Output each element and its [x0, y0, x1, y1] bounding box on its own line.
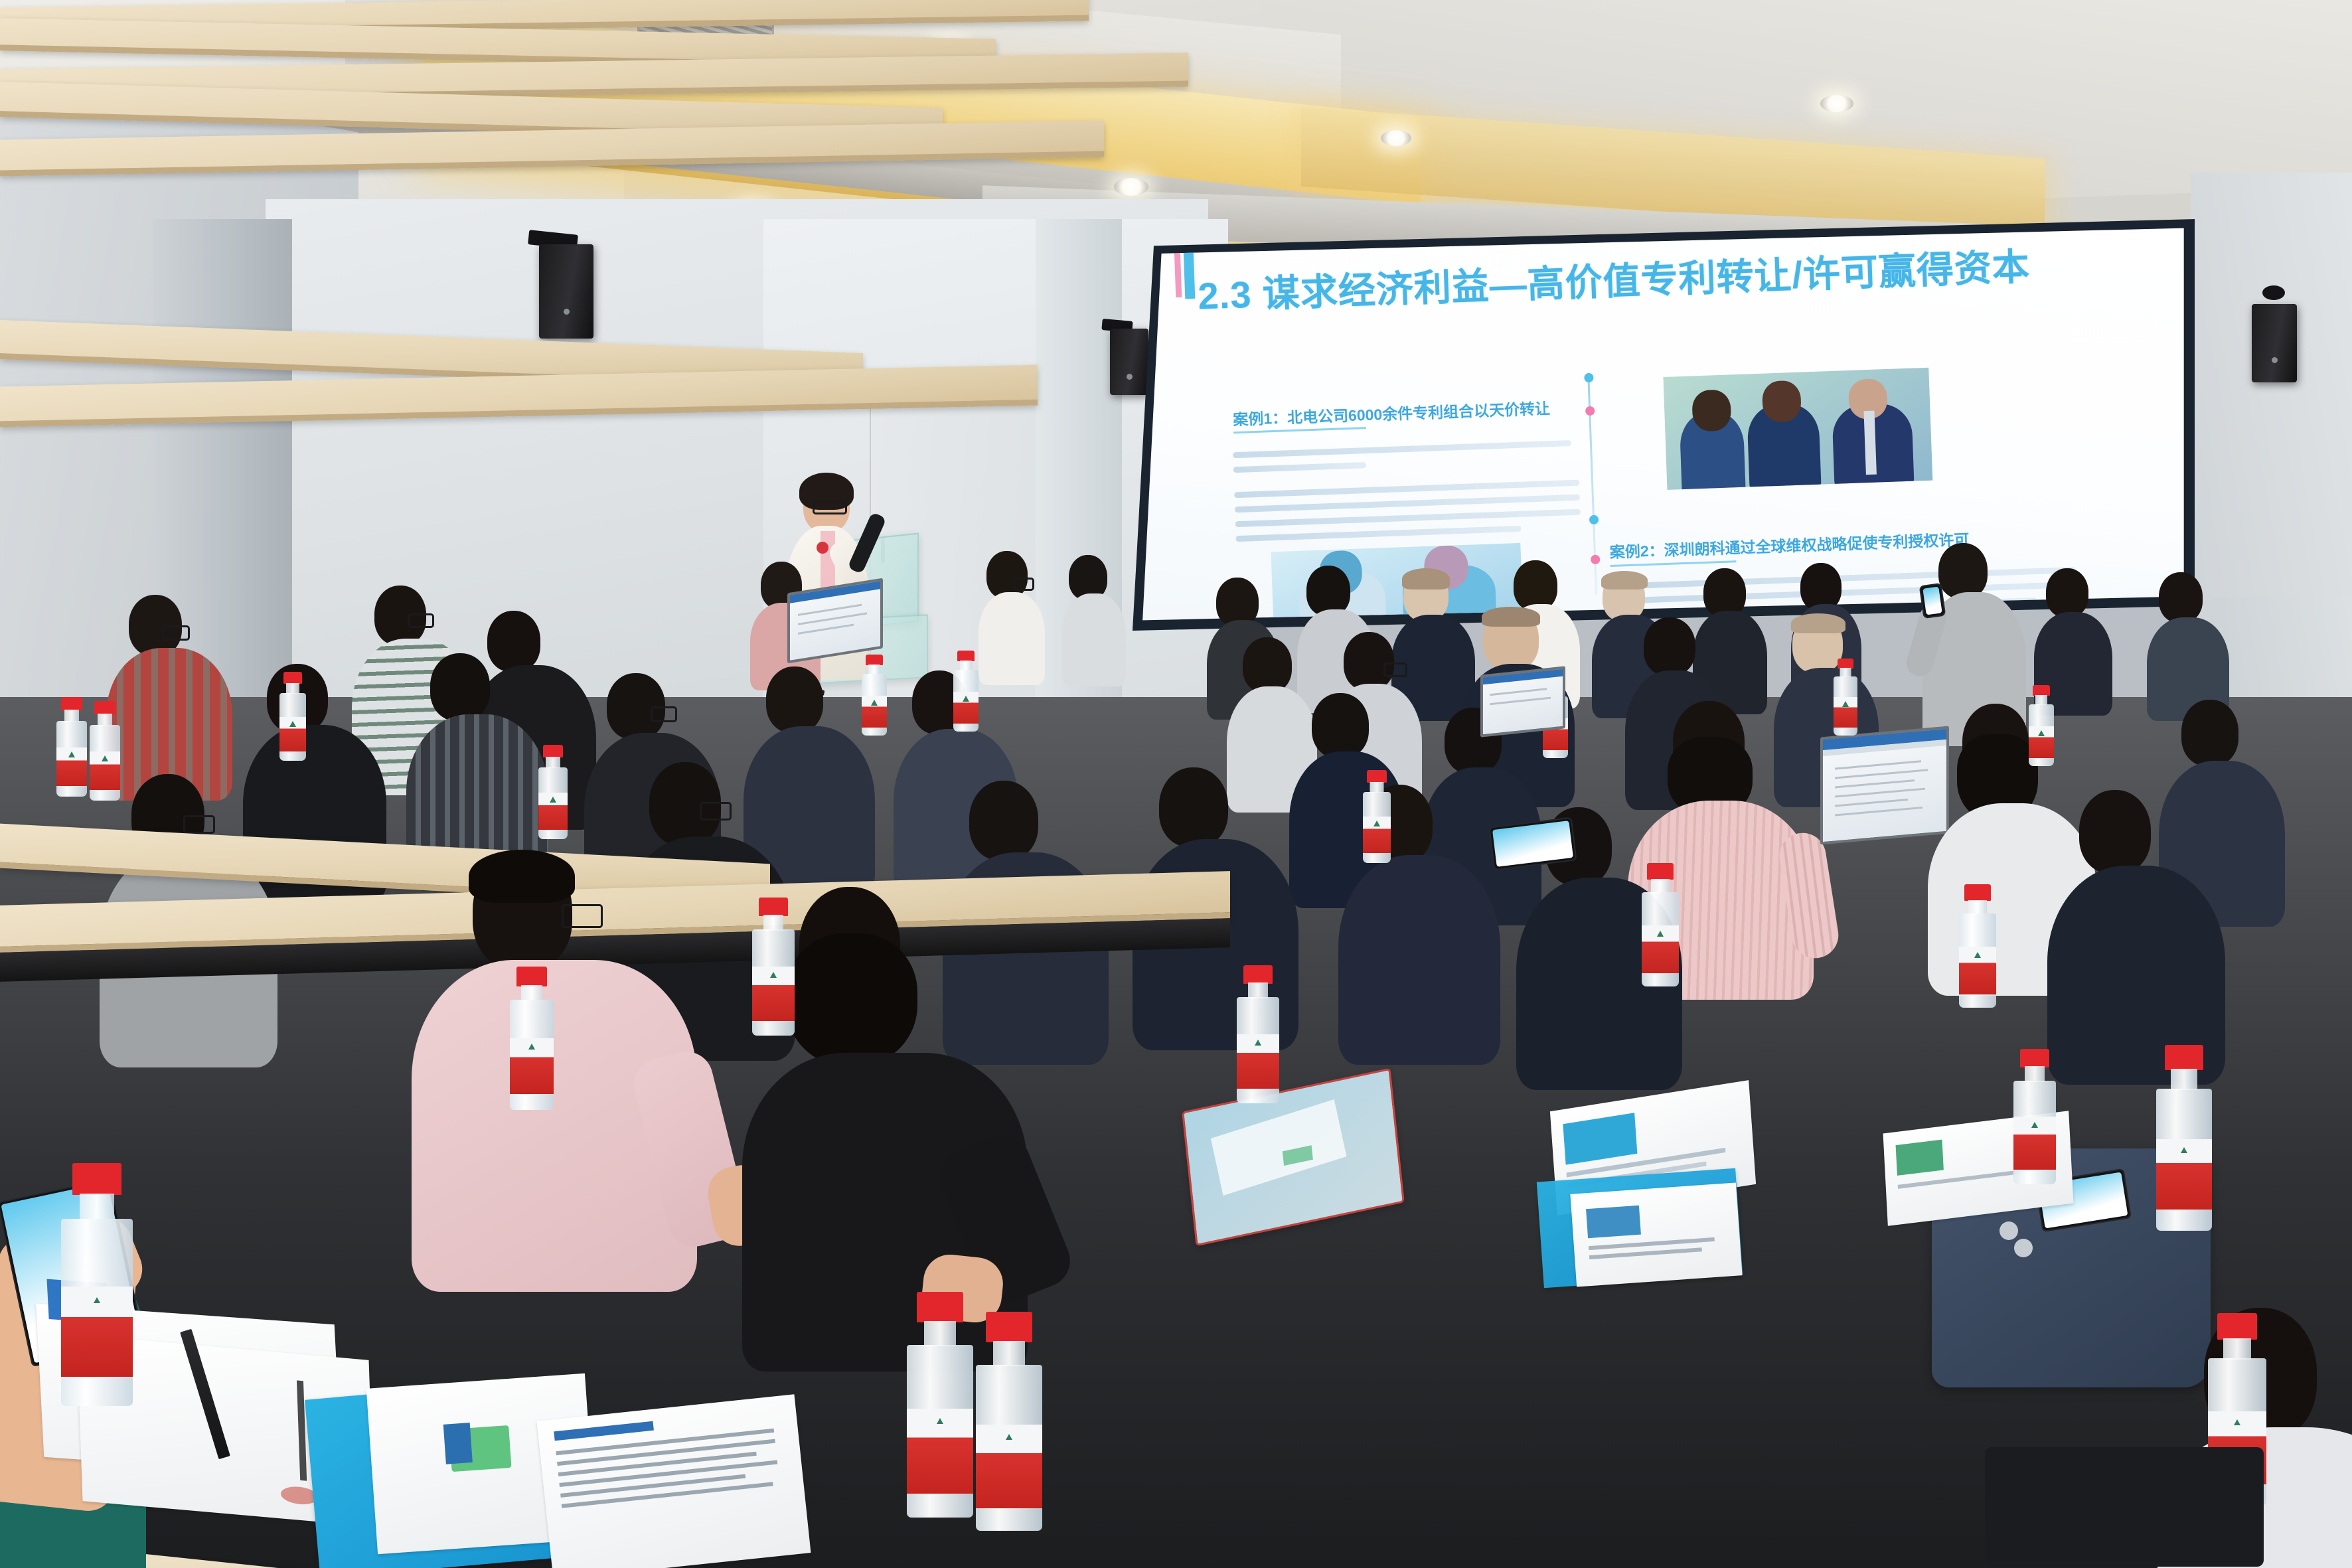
water-bottle-f3[interactable]	[277, 672, 308, 761]
water-bottle-m2[interactable]	[1235, 965, 1281, 1103]
jacket-button-2	[2014, 1239, 2033, 1257]
water-bottle-f6[interactable]	[860, 655, 888, 736]
water-bottle-f1[interactable]	[54, 697, 89, 797]
booklet-right[interactable]	[1570, 1182, 1742, 1287]
slide-case-1-line-5	[1235, 509, 1581, 528]
tablet-foreground-right[interactable]	[1985, 1447, 2264, 1567]
projection-screen: 2.3 谋求经济利益—高价值专利转让/许可赢得资本 案例1：北电公司6000余件…	[1140, 226, 2188, 623]
water-bottle-f9[interactable]	[1832, 659, 1859, 736]
timeline-dot-blue-2	[1589, 515, 1599, 524]
slide-case-1-line-6	[1236, 526, 1522, 542]
speaker-bracket-right	[2262, 285, 2285, 300]
slide-photo-negotiation	[1663, 368, 1932, 490]
water-bottle-f8[interactable]	[2027, 685, 2055, 766]
water-bottle-f4[interactable]	[536, 745, 570, 839]
slide-case-1-line-1	[1233, 440, 1571, 458]
water-bottle-m5[interactable]	[2011, 1049, 2058, 1184]
slide-case-1-line-3	[1234, 480, 1579, 499]
laptop-mid-row[interactable]	[1480, 666, 1565, 737]
wall-speaker-center	[1110, 329, 1148, 395]
timeline-dot-pink-1	[1585, 406, 1595, 416]
attendee-phone-camera	[1919, 583, 1946, 619]
water-bottle-right-jacket[interactable]	[2154, 1045, 2215, 1231]
downlight-5	[1114, 178, 1148, 196]
water-bottle-m6[interactable]	[507, 967, 556, 1110]
slide-case-1-line-2	[1233, 462, 1366, 473]
attendee-laptop[interactable]	[1820, 726, 1949, 845]
wall-speaker-right	[2252, 304, 2297, 382]
timeline-dot-pink-2	[1591, 555, 1600, 564]
slide-body: 案例1：北电公司6000余件专利组合以天价转让 案例2：深圳朗科通过全球维权战略…	[1140, 226, 2188, 623]
water-bottle-m4[interactable]	[1957, 884, 1998, 1008]
wall-speaker-left	[539, 244, 593, 339]
water-bottle-center-2[interactable]	[973, 1312, 1045, 1531]
slide-case-1-heading: 案例1：北电公司6000余件专利组合以天价转让	[1233, 396, 1551, 430]
slide-case-2-heading: 案例2：深圳朗科通过全球维权战略促使专利授权许可	[1609, 527, 1970, 562]
timeline-dot-blue-1	[1584, 373, 1593, 382]
lecture-hall-photo: 2.3 谋求经济利益—高价值专利转让/许可赢得资本 案例1：北电公司6000余件…	[0, 0, 2352, 1568]
water-bottle-f5[interactable]	[952, 651, 980, 732]
water-bottle-m1[interactable]	[750, 898, 797, 1036]
downlight-6	[1820, 95, 1853, 112]
downlight-7	[1381, 130, 1411, 146]
water-bottle-foreground-left[interactable]	[58, 1163, 135, 1406]
water-bottle-center-1[interactable]	[904, 1292, 976, 1518]
brochure-foreground[interactable]	[537, 1394, 811, 1568]
jacket-button-1	[1999, 1221, 2018, 1240]
water-bottle-f10[interactable]	[1361, 770, 1393, 863]
water-bottle-f2[interactable]	[88, 701, 122, 801]
slide-case-1-line-4	[1235, 495, 1580, 513]
water-bottle-m3[interactable]	[1640, 863, 1681, 986]
